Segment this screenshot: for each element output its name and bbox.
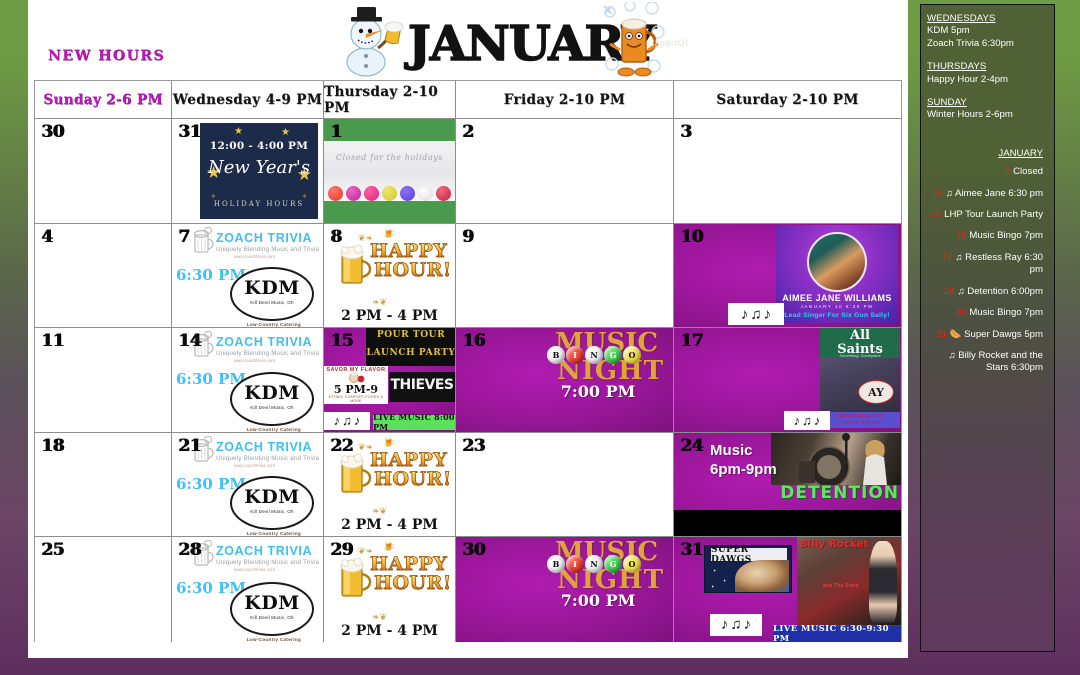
title-band: NEW HOURS JANUARY xyxy=(28,0,908,80)
kdm-logo-text: KDM xyxy=(232,592,312,614)
kdm-logo-text: KDM xyxy=(232,277,312,299)
column-header-wednesday: Wednesday 4-9 PM xyxy=(172,81,324,118)
ornament-icon xyxy=(328,186,343,201)
music-note-icon: ♫ xyxy=(342,414,352,427)
poster-figure xyxy=(869,541,897,623)
day-cell-jan7[interactable]: 7 ZOACH TRIVIA Uniquely Blending Music a… xyxy=(172,224,324,328)
pour-tour-line2: LAUNCH PARTY xyxy=(366,348,456,358)
music-note-icon: ♪ xyxy=(744,617,752,632)
zoach-subtitle: Uniquely Blending Music and Trivia xyxy=(216,455,319,462)
month-title-group: JANUARY xyxy=(328,2,728,78)
star-icon: ★ xyxy=(234,126,243,137)
bingo-ball-icon: N xyxy=(585,346,603,364)
sidebar-heading-thursdays: THURSDAYS xyxy=(927,61,1045,73)
sidebar-event-text: LHP Tour Launch Party xyxy=(944,209,1043,220)
zoach-url: www.zoachtrivia.com xyxy=(234,567,275,572)
sidebar-event-day: 30 xyxy=(956,307,967,318)
music-note-icon: ♫ xyxy=(750,307,761,322)
kdm-logo-subtext: Kill Devil Music, Oh xyxy=(232,300,312,305)
kdm-logo-subtext: Kill Devil Music, Oh xyxy=(232,509,312,514)
music-bingo-time: 7:00 PM xyxy=(529,382,667,401)
sidebar-event-day: 24 xyxy=(944,286,955,297)
sidebar-event-text: Closed xyxy=(1013,166,1043,177)
all-saints-footer-date: Saturday, January 17th xyxy=(820,413,900,418)
music-notes-badge: ♪♫♪ xyxy=(728,303,784,325)
music-note-icon: ♪ xyxy=(721,617,729,632)
sidebar-event-day: 1 xyxy=(1005,166,1010,177)
happy-hour-line1: HAPPY xyxy=(370,242,447,261)
kdm-logo-footer: Low-Country Catering xyxy=(247,427,301,432)
day-cell-jan29[interactable]: 29 ❦❧ 🍺 HAPPY HOUR! ❧❦ 2 PM - xyxy=(324,537,456,642)
savor-footer: ETHNIC COMFORT FOODS & MORE xyxy=(324,395,388,403)
music-notes-badge: ♪♫♪ xyxy=(324,412,370,430)
sidebar-weekly-sunday: SUNDAY Winter Hours 2-6pm xyxy=(927,97,1045,122)
music-bingo-promo: MUSIC B I N G O NIGHT 7:00 PM xyxy=(529,328,667,414)
day-cell-jan3[interactable]: 3 xyxy=(674,119,901,223)
day-number: 10 xyxy=(680,227,703,247)
day-cell-jan9[interactable]: 9 xyxy=(456,224,674,328)
star-icon: ★ xyxy=(281,127,290,138)
sidebar-event-15: 15 LHP Tour Launch Party xyxy=(927,209,1045,221)
music-note-icon: ♫ xyxy=(948,350,955,361)
music-note-icon: ♪ xyxy=(354,414,361,427)
beer-mug-small-icon: 🍺 xyxy=(382,226,396,239)
day-cell-jan21[interactable]: 21 ZOACH TRIVIA Uniquely Blending Music … xyxy=(172,433,324,537)
day-number: 3 xyxy=(680,122,691,142)
kdm-logo-subtext: Kill Devil Music, Oh xyxy=(232,405,312,410)
sidebar-weekly-thursdays: THURSDAYS Happy Hour 2-4pm xyxy=(927,61,1045,86)
calendar-week-row: 4 7 ZOACH TRIVIA Uniquely Blending Music… xyxy=(35,224,901,329)
ornament-icon xyxy=(382,186,397,201)
happy-hour-time: 2 PM - 4 PM xyxy=(324,517,455,533)
billy-rocket-poster: Billy Rocket and The Stars xyxy=(797,537,901,625)
billy-rocket-name: Billy Rocket xyxy=(800,539,869,550)
sidebar-event-text: Detention 6:00pm xyxy=(967,286,1043,297)
watermark-text: ClipartOf xyxy=(648,38,688,48)
all-saints-footer-time: 6:30 PM - 9:30 PM xyxy=(820,420,900,425)
day-number: 23 xyxy=(462,436,485,456)
artist-tagline: Lead Singer For Six Gun Sally! xyxy=(776,312,898,319)
kdm-logo-footer: Low-Country Catering xyxy=(247,531,301,536)
day-number: 30 xyxy=(41,122,64,142)
day-number: 21 xyxy=(178,436,201,456)
kdm-logo-footer: Low-Country Catering xyxy=(247,322,301,327)
savor-my-flavor-logo: SAVOR MY FLAVOR 5 PM-9 ETHNIC COMFORT FO… xyxy=(324,366,388,404)
day-number: 16 xyxy=(462,331,485,351)
spacer xyxy=(927,50,1045,61)
bingo-ball-icon: I xyxy=(566,555,584,573)
all-saints-line3: Something, Someplace xyxy=(820,353,900,358)
closed-text: Closed for the holidays xyxy=(324,153,455,162)
star-icon: ✦ xyxy=(723,578,726,583)
column-header-sunday: Sunday 2-6 PM xyxy=(35,81,172,118)
new-hours-label: NEW HOURS xyxy=(48,48,165,64)
beer-mug-icon xyxy=(192,227,216,255)
sidebar-heading-wednesdays: WEDNESDAYS xyxy=(927,13,1045,25)
sidebar-event-text: Restless Ray 6:30 pm xyxy=(965,252,1043,275)
artist-date: JANUARY 10 6:30 PM xyxy=(776,304,898,309)
sidebar-event-text: Music Bingo 7pm xyxy=(969,307,1043,318)
music-note-icon: ♪ xyxy=(814,414,821,427)
zoach-title: ZOACH TRIVIA xyxy=(216,335,312,349)
schedule-sidebar: WEDNESDAYS KDM 5pm Zoach Trivia 6:30pm T… xyxy=(920,4,1055,652)
zoach-url: www.zoachtrivia.com xyxy=(234,463,275,468)
day-number: 11 xyxy=(41,331,64,351)
music-bingo-promo: MUSIC B I N G O NIGHT 7:00 PM xyxy=(529,537,667,623)
ornament-row xyxy=(328,186,451,201)
bingo-ball-icon: B xyxy=(547,346,565,364)
sidebar-event-text: Billy Rocket and the Stars 6:30pm xyxy=(958,350,1043,373)
music-note-icon: ♪ xyxy=(764,307,772,322)
music-bingo-time: 7:00 PM xyxy=(529,591,667,610)
day-number: 1 xyxy=(330,122,341,142)
day-number: 18 xyxy=(41,436,64,456)
sidebar-event-text: Super Dawgs 5pm xyxy=(964,329,1043,340)
day-number: 24 xyxy=(680,436,703,456)
column-header-friday: Friday 2-10 PM xyxy=(456,81,674,118)
day-cell-jan17[interactable]: 17 All Saints Something, Someplace AY Sa… xyxy=(674,328,901,432)
pour-tour-banner: POUR TOUR LAUNCH PARTY xyxy=(366,328,456,366)
day-cell-jan2[interactable]: 2 xyxy=(456,119,674,223)
music-note-icon: ♫ xyxy=(946,188,953,199)
sidebar-line-kdm: KDM 5pm xyxy=(927,25,1045,37)
zoach-url: www.zoachtrivia.com xyxy=(234,358,275,363)
kdm-logo: KDM Kill Devil Music, Oh xyxy=(230,582,314,636)
day-number: 30 xyxy=(462,540,485,560)
sidebar-event-24: 24 ♫ Detention 6:00pm xyxy=(927,286,1045,298)
sidebar-event-10: 10 ♫ Aimee Jane 6:30 pm xyxy=(927,188,1045,200)
day-number: 31 xyxy=(178,122,201,142)
sidebar-event-day: 16 xyxy=(956,230,967,241)
calendar-week-row: 18 21 ZOACH TRIVIA Uniquely Blending Mus… xyxy=(35,433,901,538)
music-note-icon: ♫ xyxy=(957,286,964,297)
music-notes-badge: ♪♫♪ xyxy=(784,411,830,430)
detention-music-time: Music 6pm-9pm xyxy=(710,441,777,479)
sidebar-event-billy-rocket: ♫ Billy Rocket and the Stars 6:30pm xyxy=(927,350,1045,375)
calendar-week-row: 30 31 ★ ★ ★ ★ ✦ ✦ 12:00 - 4:00 PM New Ye… xyxy=(35,119,901,224)
column-header-saturday: Saturday 2-10 PM xyxy=(674,81,901,118)
calendar-header-row: Sunday 2-6 PM Wednesday 4-9 PM Thursday … xyxy=(35,81,901,119)
bingo-balls-row: B I N G O xyxy=(547,555,641,573)
sidebar-heading-sunday: SUNDAY xyxy=(927,97,1045,109)
sidebar-event-16: 16 Music Bingo 7pm xyxy=(927,230,1045,242)
star-icon: ✦ xyxy=(711,584,714,589)
ornament-icon xyxy=(436,186,451,201)
kdm-logo: KDM Kill Devil Music, Oh xyxy=(230,476,314,530)
artist-name: AIMEE JANE WILLIAMS xyxy=(776,293,898,303)
happy-hour-line2: HOUR! xyxy=(374,574,452,593)
day-number: 22 xyxy=(330,436,353,456)
sidebar-line-zoach: Zoach Trivia 6:30pm xyxy=(927,38,1045,50)
live-music-text: LIVE MUSIC 6:30-9:30 PM xyxy=(773,624,901,642)
pour-tour-line1: POUR TOUR xyxy=(366,330,456,340)
beer-mug-icon xyxy=(338,555,374,601)
new-years-title: New Year's xyxy=(200,157,318,178)
happy-hour-time: 2 PM - 4 PM xyxy=(324,308,455,324)
day-cell-jan24[interactable]: 24 Music 6pm-9pm xyxy=(674,433,901,537)
day-number: 25 xyxy=(41,540,64,560)
calendar-page: NEW HOURS JANUARY xyxy=(28,0,908,658)
bingo-ball-icon: O xyxy=(623,346,641,364)
kdm-logo-footer: Low-Country Catering xyxy=(247,637,301,642)
music-note-icon: ♫ xyxy=(955,252,962,263)
happy-hour-line2: HOUR! xyxy=(374,470,452,489)
day-number: 14 xyxy=(178,331,201,351)
ornament-icon xyxy=(364,186,379,201)
sidebar-event-30: 30 Music Bingo 7pm xyxy=(927,307,1045,319)
day-cell-jan15[interactable]: 15 POUR TOUR LAUNCH PARTY SAVOR MY FLAVO… xyxy=(324,328,456,432)
day-cell-jan28[interactable]: 28 ZOACH TRIVIA Uniquely Blending Music … xyxy=(172,537,324,642)
ornament-icon xyxy=(346,186,361,201)
flourish-icon: ❧❦ xyxy=(372,612,387,623)
day-cell-jan16[interactable]: 16 MUSIC B I N G O NIGHT 7:00 PM xyxy=(456,328,674,432)
band-badge: AY xyxy=(858,380,894,404)
sidebar-event-text: Aimee Jane 6:30 pm xyxy=(955,188,1043,199)
sidebar-month-label: JANUARY xyxy=(927,148,1045,160)
happy-hour-line2: HOUR! xyxy=(374,261,452,280)
kdm-logo: KDM Kill Devil Music, Oh xyxy=(230,372,314,426)
bingo-ball-icon: G xyxy=(604,346,622,364)
sidebar-line-winter-hours: Winter Hours 2-6pm xyxy=(927,109,1045,121)
new-years-time: 12:00 - 4:00 PM xyxy=(200,140,318,152)
sidebar-event-day: 10 xyxy=(932,188,943,199)
sidebar-line-happy-hour: Happy Hour 2-4pm xyxy=(927,74,1045,86)
day-cell-dec30[interactable]: 30 xyxy=(35,119,172,223)
dog-mascot-icon xyxy=(735,560,789,592)
zoach-subtitle: Uniquely Blending Music and Trivia xyxy=(216,350,319,357)
day-number: 31 xyxy=(680,540,703,560)
kdm-logo-subtext: Kill Devil Music, Oh xyxy=(232,615,312,620)
music-note-icon: ♪ xyxy=(741,307,749,322)
live-music-text: LIVE MUSIC 8:00 PM xyxy=(373,412,455,432)
kdm-logo: KDM Kill Devil Music, Oh xyxy=(230,267,314,321)
beer-mug-icon xyxy=(338,242,374,288)
zoach-subtitle: Uniquely Blending Music and Trivia xyxy=(216,246,319,253)
day-cell-jan14[interactable]: 14 ZOACH TRIVIA Uniquely Blending Music … xyxy=(172,328,324,432)
day-number: 7 xyxy=(178,227,189,247)
sidebar-event-text: Music Bingo 7pm xyxy=(969,230,1043,241)
detention-line1: Music xyxy=(710,441,777,460)
bingo-ball-icon: B xyxy=(547,555,565,573)
music-note-icon: ♫ xyxy=(802,414,812,427)
beer-mug-small-icon: 🍺 xyxy=(382,435,396,448)
spacer xyxy=(927,86,1045,97)
happy-hour-promo: ❦❧ 🍺 HAPPY HOUR! ❧❦ 2 PM - 4 PM xyxy=(324,224,455,328)
day-number: 2 xyxy=(462,122,473,142)
zoach-subtitle: Uniquely Blending Music and Trivia xyxy=(216,559,319,566)
zoach-url: www.zoachtrivia.com xyxy=(234,254,275,259)
day-cell-jan25[interactable]: 25 xyxy=(35,537,172,642)
sidebar-weekly-wednesdays: WEDNESDAYS KDM 5pm Zoach Trivia 6:30pm xyxy=(927,13,1045,50)
bingo-ball-icon: I xyxy=(566,346,584,364)
artist-photo xyxy=(807,232,867,292)
day-number: 15 xyxy=(330,331,353,351)
billy-rocket-subname: and The Stars xyxy=(823,583,859,589)
kdm-logo-text: KDM xyxy=(232,486,312,508)
day-number: 29 xyxy=(330,540,353,560)
ornament-icon xyxy=(418,186,433,201)
flourish-icon: ❧❦ xyxy=(372,506,387,517)
thieves-band-name: THIEVES xyxy=(389,377,455,393)
beer-mug-icon xyxy=(338,451,374,497)
sidebar-event-day: 15 xyxy=(931,209,942,220)
music-notes-badge: ♪♫♪ xyxy=(710,614,762,636)
day-number: 9 xyxy=(462,227,473,247)
column-header-thursday: Thursday 2-10 PM xyxy=(324,81,456,118)
day-number: 28 xyxy=(178,540,201,560)
day-number: 17 xyxy=(680,331,703,351)
happy-hour-time: 2 PM - 4 PM xyxy=(324,623,455,639)
super-dawgs-logo: SUPER DAWGS ✦ ✦ ✦ xyxy=(704,545,792,593)
day-number: 8 xyxy=(330,227,341,247)
day-cell-jan18[interactable]: 18 xyxy=(35,433,172,537)
bingo-ball-icon: N xyxy=(585,555,603,573)
day-cell-jan8[interactable]: 8 ❦❧ 🍺 HAPPY HOUR! ❧❦ 2 PM - 4 xyxy=(324,224,456,328)
sidebar-event-day: 31 xyxy=(936,329,947,340)
live-music-bar: LIVE MUSIC 8:00 PM xyxy=(373,415,455,430)
ornament-icon xyxy=(400,186,415,201)
kdm-logo-text: KDM xyxy=(232,382,312,404)
snowman-icon xyxy=(336,6,410,78)
new-years-subtitle: HOLIDAY HOURS xyxy=(200,200,318,208)
detention-band-photo xyxy=(771,433,901,485)
hotdog-icon: 🌭 xyxy=(949,329,961,340)
day-cell-jan10[interactable]: 10 AIMEE JANE WILLIAMS JANUARY 10 6:30 P… xyxy=(674,224,901,328)
sidebar-event-31: 31 🌭 Super Dawgs 5pm xyxy=(927,329,1045,341)
poster-footer-band: Saturday, January 17th 6:30 PM - 9:30 PM xyxy=(820,412,900,428)
beer-mug-small-icon: 🍺 xyxy=(382,539,396,552)
flourish-icon: ❧❦ xyxy=(372,297,387,308)
happy-hour-line1: HAPPY xyxy=(370,451,447,470)
day-cell-jan30[interactable]: 30 MUSIC B I N G O NIGHT 7:00 PM xyxy=(456,537,674,642)
black-filler-strip xyxy=(674,510,901,536)
sidebar-event-day: 17 xyxy=(942,252,953,263)
zoach-title: ZOACH TRIVIA xyxy=(216,544,312,558)
day-cell-jan22[interactable]: 22 ❦❧ 🍺 HAPPY HOUR! ❧❦ 2 PM - xyxy=(324,433,456,537)
calendar-grid: Sunday 2-6 PM Wednesday 4-9 PM Thursday … xyxy=(34,80,902,642)
day-cell-jan23[interactable]: 23 xyxy=(456,433,674,537)
day-cell-jan4[interactable]: 4 xyxy=(35,224,172,328)
music-note-icon: ♫ xyxy=(730,617,741,632)
day-cell-jan11[interactable]: 11 xyxy=(35,328,172,432)
day-cell-jan1[interactable]: 1 Closed for the holidays xyxy=(324,119,456,223)
band-photo-illustration xyxy=(771,433,901,485)
music-note-icon: ♪ xyxy=(334,414,341,427)
bingo-balls-row: B I N G O xyxy=(547,346,641,364)
day-number: 4 xyxy=(41,227,52,247)
zoach-trivia-promo: ZOACH TRIVIA Uniquely Blending Music and… xyxy=(172,224,323,328)
all-saints-line1: All xyxy=(820,328,900,343)
calendar-week-row: 11 14 ZOACH TRIVIA Uniquely Blending Mus… xyxy=(35,328,901,433)
music-note-icon: ♪ xyxy=(794,414,801,427)
thieves-band-logo: THIEVES xyxy=(389,372,455,402)
sidebar-event-1: 1 Closed xyxy=(927,166,1045,178)
new-years-hours-graphic: ★ ★ ★ ★ ✦ ✦ 12:00 - 4:00 PM New Year's H… xyxy=(200,123,318,219)
all-saints-poster: All Saints Something, Someplace AY Satur… xyxy=(820,328,900,428)
band-badge-text: AY xyxy=(868,386,884,399)
bingo-ball-icon: O xyxy=(623,555,641,573)
detention-line2: 6pm-9pm xyxy=(710,460,777,479)
live-music-bar: LIVE MUSIC 6:30-9:30 PM xyxy=(773,626,901,642)
detention-band-name: DETENTION xyxy=(780,483,899,503)
star-icon: ✦ xyxy=(713,568,716,573)
closed-for-holidays-banner: Closed for the holidays xyxy=(324,141,455,201)
day-cell-jan31[interactable]: 31 SUPER DAWGS ✦ ✦ ✦ Billy Rocket and Th… xyxy=(674,537,901,642)
zoach-title: ZOACH TRIVIA xyxy=(216,231,312,245)
zoach-title: ZOACH TRIVIA xyxy=(216,440,312,454)
aimee-jane-poster: AIMEE JANE WILLIAMS JANUARY 10 6:30 PM L… xyxy=(776,225,898,323)
calendar-week-row: 25 28 ZOACH TRIVIA Uniquely Blending Mus… xyxy=(35,537,901,642)
sidebar-event-17: 17 ♫ Restless Ray 6:30 pm xyxy=(927,252,1045,277)
day-cell-dec31[interactable]: 31 ★ ★ ★ ★ ✦ ✦ 12:00 - 4:00 PM New Year'… xyxy=(172,119,324,223)
bingo-ball-icon: G xyxy=(604,555,622,573)
